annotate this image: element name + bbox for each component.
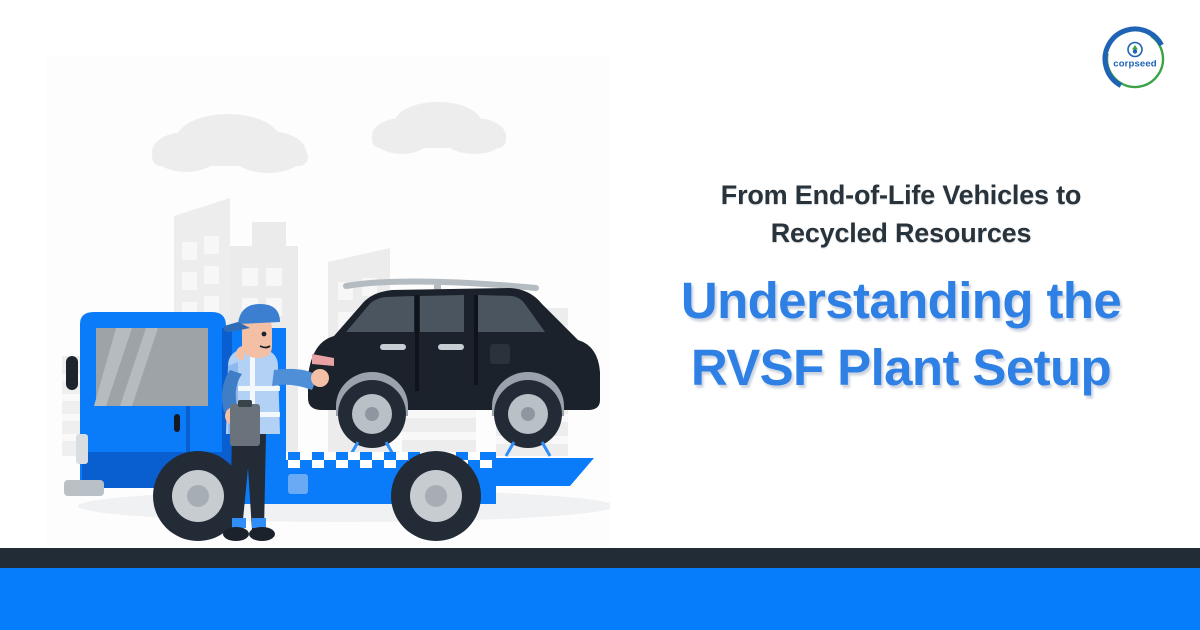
bottom-blue-bar — [0, 568, 1200, 630]
recycle-arrow-icon — [1132, 45, 1138, 50]
banner-subtitle-line2: Recycled Resources — [625, 214, 1177, 252]
truck-bumper — [64, 480, 104, 496]
worker-hand-right — [311, 369, 329, 387]
truck-hub-front — [187, 485, 209, 507]
banner-root: corpseed — [0, 0, 1200, 630]
worker-clipboard — [230, 404, 260, 446]
banner-subtitle-line1: From End-of-Life Vehicles to — [625, 176, 1177, 214]
corpseed-logo-mark: corpseed — [1098, 22, 1172, 96]
illustration-panel — [46, 56, 610, 546]
worker-shoe-right — [249, 527, 275, 541]
truck-door-line — [186, 406, 190, 452]
truck-door-handle — [174, 414, 180, 432]
banner-title: Understanding the RVSF Plant Setup — [625, 267, 1177, 402]
suv-door-line-a — [415, 295, 419, 391]
suv-handle-front — [380, 344, 406, 350]
worker-cuff-right — [252, 518, 266, 528]
suv-hub-front — [365, 407, 379, 421]
suv-fuel-cap — [490, 344, 510, 364]
worker-cuff-left — [232, 518, 246, 528]
tow-truck-illustration — [46, 56, 610, 546]
worker-clipboard-clip — [238, 400, 252, 407]
truck-mirror — [66, 356, 78, 390]
banner-subtitle: From End-of-Life Vehicles to Recycled Re… — [625, 176, 1177, 253]
worker-shoe-left — [223, 527, 249, 541]
banner-title-line1: Understanding the — [625, 267, 1177, 334]
recycle-core-icon — [1133, 49, 1137, 53]
bottom-dark-bar — [0, 548, 1200, 568]
truck-bed-badge — [288, 474, 308, 494]
banner-title-line2: RVSF Plant Setup — [625, 334, 1177, 401]
corpseed-logo[interactable]: corpseed — [1098, 22, 1172, 96]
building-mid-cap — [252, 222, 286, 248]
heading-block: From End-of-Life Vehicles to Recycled Re… — [625, 176, 1177, 401]
suv-hub-rear — [521, 407, 535, 421]
truck-front-light — [76, 434, 88, 464]
suv-window-middle — [420, 295, 464, 332]
suv-door-line-b — [474, 295, 478, 385]
suv-handle-rear — [438, 344, 464, 350]
logo-wordmark: corpseed — [1113, 59, 1156, 70]
worker-eye — [262, 332, 267, 337]
truck-hub-rear — [425, 485, 447, 507]
